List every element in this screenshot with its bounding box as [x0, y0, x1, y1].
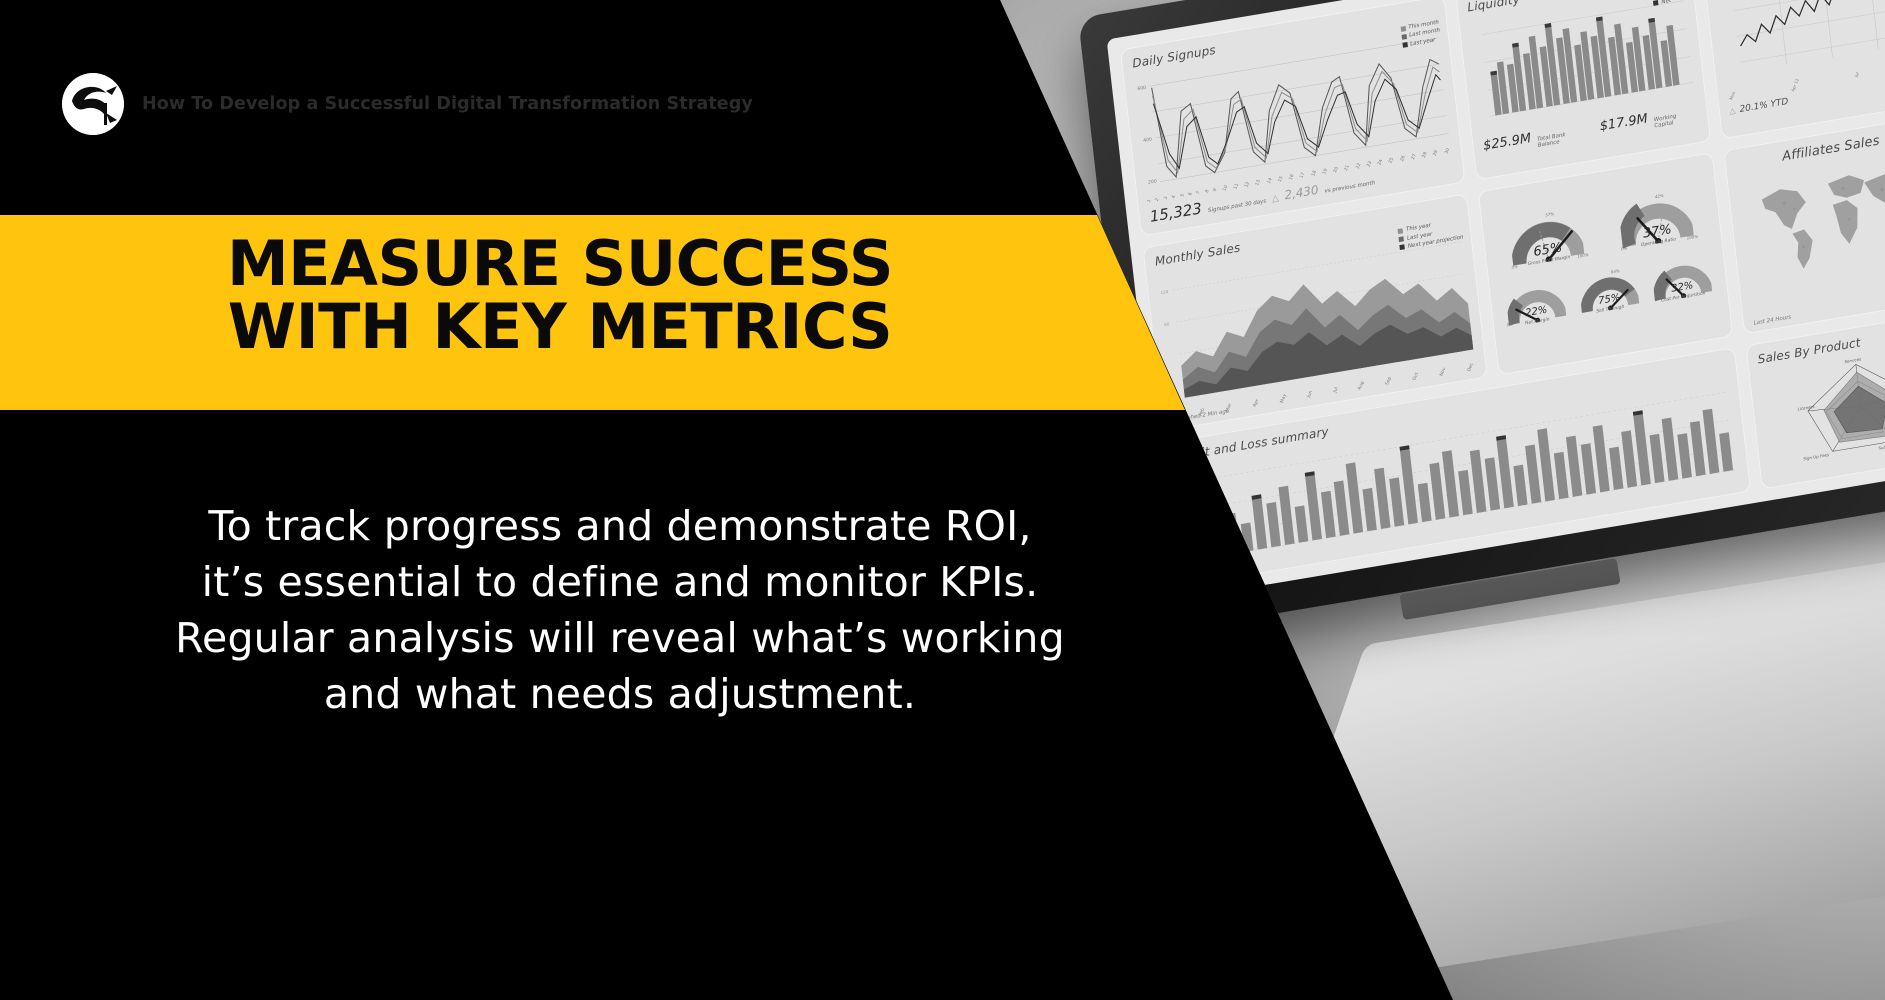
title-line-2: WITH KEY METRICS — [0, 295, 1120, 358]
metric1-caption: Total Bank Balance — [1537, 128, 1589, 148]
svg-text:60: 60 — [1164, 321, 1170, 327]
kpi-value: 15,323 — [1149, 199, 1203, 226]
affiliates-footer: Last 24 Hours — [1753, 314, 1791, 326]
brand-header: How To Develop a Successful Digital Tran… — [62, 73, 753, 135]
page-title: MEASURE SUCCESS WITH KEY METRICS — [0, 232, 1120, 358]
body-line-3: Regular analysis will reveal what’s work… — [40, 610, 1200, 666]
delta-up-icon: △ — [1271, 192, 1279, 204]
svg-text:200: 200 — [1148, 178, 1157, 185]
delta-caption: vs previous month — [1324, 180, 1375, 194]
gauge-gross-profit-margin: 57% 0% 100% 65% Gross Profit Margin — [1508, 210, 1586, 280]
panel-sales-by-product: Sales By Product Services — [1745, 309, 1885, 489]
body-paragraph: To track progress and demonstrate ROI, i… — [40, 498, 1200, 723]
delta-value: 2,430 — [1284, 183, 1319, 203]
metric2-caption: Working Capital — [1654, 110, 1698, 129]
panel-affiliates-sales: Affiliates Sales — [1723, 115, 1885, 334]
svg-text:Services: Services — [1844, 356, 1861, 364]
x-tick: Jul — [1853, 72, 1859, 78]
panel-liquidity: Liquidity Cash In Cash Out Net — [1455, 0, 1711, 181]
body-line-2: it’s essential to define and monitor KPI… — [40, 554, 1200, 610]
svg-text:400: 400 — [1143, 137, 1152, 144]
svg-text:600: 600 — [1137, 85, 1146, 92]
poster-canvas: Daily Signups This month Last month Last… — [0, 0, 1885, 1000]
panel-monthly-sales: Monthly Sales This year Last year Next y… — [1142, 194, 1487, 432]
gauge-operating-ratio: 42% 0% 100% 37% Operating Ratio — [1618, 192, 1696, 262]
title-line-1: MEASURE SUCCESS — [227, 227, 893, 300]
kpi-caption: Signups past 30 days — [1208, 198, 1267, 214]
panel-daily-signups-secondary: Daily Signups Mon Apr 12 Jul Oct — [1700, 0, 1885, 140]
gauge-sell-through: 64% 75% Sell Through — [1578, 268, 1641, 325]
metric1-value: $25.9M — [1482, 131, 1531, 154]
svg-text:Sign Up Fees: Sign Up Fees — [1803, 452, 1829, 461]
metric2-value: $17.9M — [1599, 111, 1648, 134]
swoosh-circle-logo-icon — [62, 73, 124, 135]
gauge-cost-per-acquisition: 32% Cost Per Acquisition — [1651, 256, 1714, 313]
ytd-label: 20.1% YTD — [1739, 97, 1789, 115]
x-tick: Mon — [1728, 91, 1736, 101]
panel-gauges: 57% 0% 100% 65% Gross Profit Margin — [1477, 153, 1733, 376]
svg-text:120: 120 — [1160, 289, 1169, 295]
body-line-1: To track progress and demonstrate ROI, — [40, 498, 1200, 554]
body-line-4: and what needs adjustment. — [40, 666, 1200, 722]
gauge-net-margin: 0% 22% Net Margin — [1505, 280, 1568, 337]
delta-up-icon: △ — [1729, 106, 1736, 116]
x-tick: Apr 12 — [1790, 78, 1800, 92]
article-title: How To Develop a Successful Digital Tran… — [142, 94, 753, 114]
